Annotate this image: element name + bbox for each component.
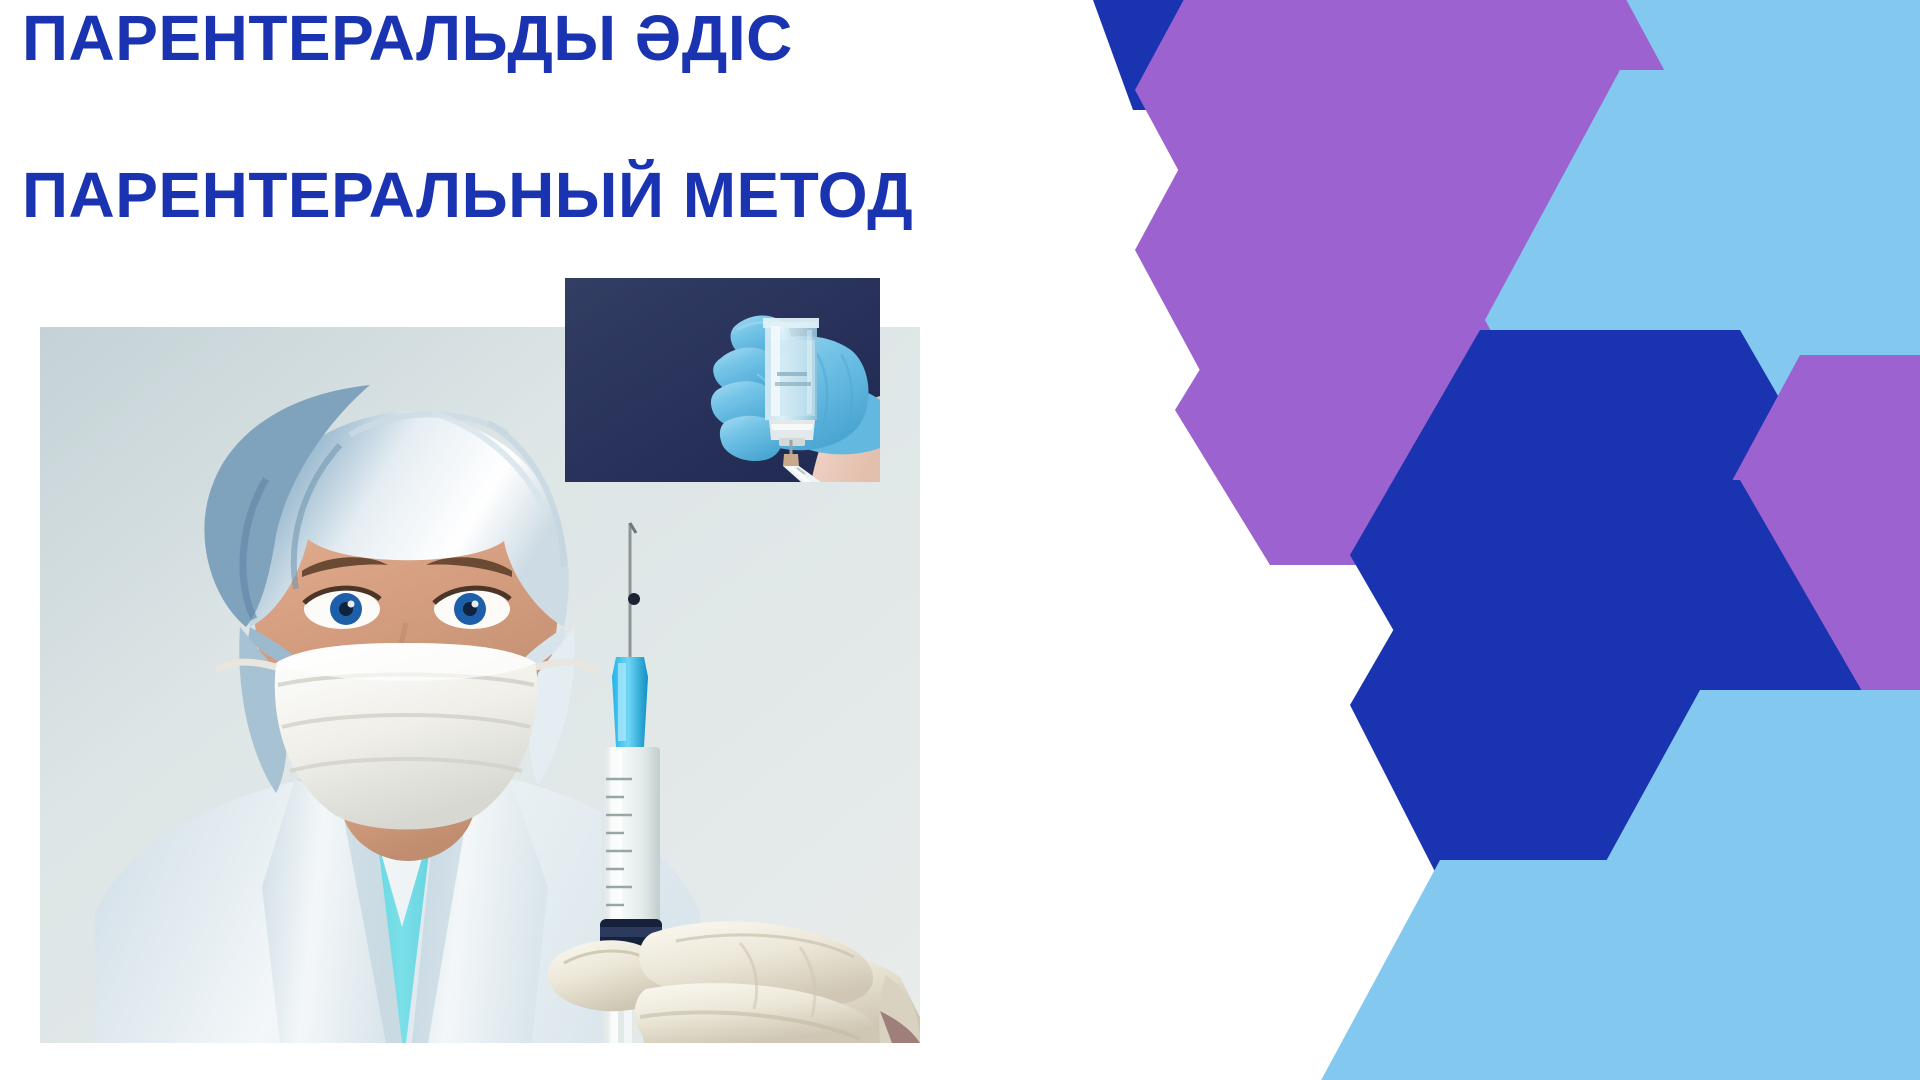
vaccine-vial	[763, 318, 819, 446]
hexagon-dark-blue-top	[1073, 0, 1410, 110]
hexagon-dark-blue-lower-center	[1350, 480, 1870, 960]
hexagon-purple-right-edge	[1665, 355, 1920, 855]
hexagon-light-blue-right-mid	[1485, 70, 1920, 570]
hexagon-light-blue-lower-right	[1560, 690, 1920, 1080]
photo-vial-graphic	[565, 278, 880, 482]
title-russian: ПАРЕНТЕРАЛЬНЫЙ МЕТОД	[22, 163, 913, 227]
hexagon-dark-blue-mid-right	[1350, 330, 1870, 780]
eye-right	[434, 588, 510, 629]
photo-vial-in-gloved-hand	[565, 278, 880, 482]
hexagon-light-blue-bottom	[1305, 860, 1845, 1080]
hexagon-light-blue-upper-right	[1490, 0, 1920, 310]
slide-canvas: ПАРЕНТЕРАЛЬДЫ ӘДІС ПАРЕНТЕРАЛЬНЫЙ МЕТОД	[0, 0, 1920, 1080]
hexagon-purple-center	[1135, 0, 1675, 500]
hexagon-purple-large	[1135, 0, 1675, 340]
title-kazakh: ПАРЕНТЕРАЛЬДЫ ӘДІС	[22, 6, 793, 70]
eye-left	[304, 588, 380, 629]
hexagon-purple-lower	[1175, 255, 1620, 565]
hexagon-decoration-svg	[920, 0, 1920, 1080]
hexagon-decoration	[920, 0, 1920, 1080]
